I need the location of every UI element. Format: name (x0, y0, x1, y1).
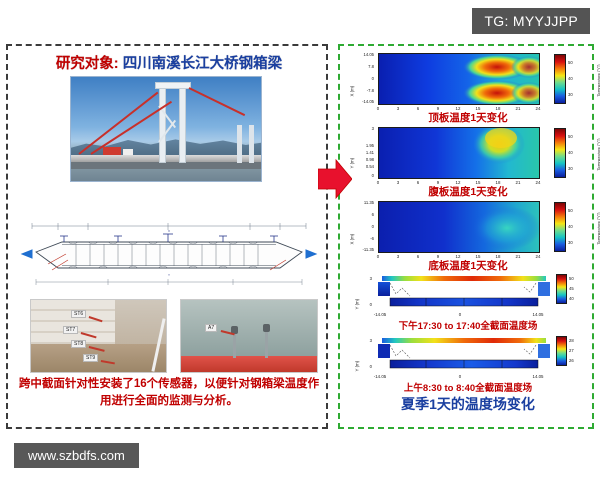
telegram-watermark-badge: TG: MYYJJPP (472, 8, 590, 34)
chart4-cbar-tick-40: 40 (569, 296, 574, 301)
chart3-title: 底板温度1天变化 (340, 258, 596, 273)
chart5-xtick-0: -14.05 (366, 374, 394, 379)
chart1-cbar-tick-30: 30 (568, 92, 573, 97)
chart3-cbar-tick-40: 40 (568, 224, 573, 229)
chart-section-morning: Y (m) 3 0 (340, 334, 596, 396)
study-caption: 跨中截面针对性安装了16个传感器，以便针对钢箱梁温度作用进行全面的监测与分析。 (14, 376, 324, 409)
chart4-cbar-tick-45: 45 (569, 286, 574, 291)
sensor-label-a7: A7 (205, 324, 217, 332)
chart3-ytick-2: 0 (346, 224, 374, 229)
sensor-label-st6: ST6 (71, 310, 86, 318)
photo-tower-cap (155, 82, 191, 89)
right-panel: X (m) 14.05 7.8 0 -7.8 -14.05 (338, 44, 594, 429)
bridge-photo (70, 76, 262, 182)
chart2-plot-area (378, 127, 540, 179)
chart4-cbar-tick-50: 50 (569, 276, 574, 281)
chart3-plot-area (378, 201, 540, 253)
chart2-ytick-2: 1.41 (348, 150, 374, 155)
chart5-ytick-0: 0 (354, 364, 372, 369)
chart1-title: 顶板温度1天变化 (340, 110, 596, 125)
photo-far-tower-left (237, 125, 242, 163)
photo-sensor-head-2 (263, 324, 270, 332)
chart3-colorbar-label: Temperature (°C) (597, 200, 600, 258)
chart5-plot-area (376, 336, 552, 372)
right-panel-summary-title: 夏季1天的温度场变化 (340, 394, 596, 414)
chart1-ytick-0: 14.05 (348, 52, 374, 57)
svg-text:X: X (168, 229, 170, 233)
chart1-cbar-tick-50: 50 (568, 60, 573, 65)
chart-web-plate: Y (m) 3 1.95 1.41 0.98 0.54 0 (340, 124, 596, 194)
sensor-label-st9: ST9 (83, 354, 98, 362)
photo-far-tower-right (249, 125, 254, 163)
chart4-title: 下午17:30 to 17:40全截面温度场 (340, 318, 596, 332)
chart1-ytick-1: 7.8 (348, 64, 374, 69)
chart1-cbar-tick-40: 40 (568, 76, 573, 81)
chart5-xtick-2: 14.05 (524, 374, 552, 379)
chart5-cbar-tick-26: 26 (569, 358, 574, 363)
sensor-label-st8: ST8 (71, 340, 86, 348)
chart1-ytick-2: 0 (348, 76, 374, 81)
chart-top-plate: X (m) 14.05 7.8 0 -7.8 -14.05 (340, 50, 596, 120)
chart1-colorbar (554, 54, 566, 104)
chart2-title: 腹板温度1天变化 (340, 184, 596, 199)
photo-vehicle (123, 149, 133, 155)
photo-river-surface (181, 300, 317, 356)
photo-sensor-post-2 (265, 328, 268, 358)
chart4-xtick-0: -14.05 (366, 312, 394, 317)
chart4-xtick-2: 14.05 (524, 312, 552, 317)
photo-red-deck (181, 356, 317, 372)
sensor-deck-photo: A7 (180, 299, 318, 373)
chart-section-afternoon: Y (m) 3 0 (340, 272, 596, 334)
chart3-ytick-3: -6 (346, 236, 374, 241)
chart4-ytick-0: 0 (354, 302, 372, 307)
flow-arrow-right-icon (318, 158, 352, 200)
chart3-cbar-tick-30: 30 (568, 240, 573, 245)
chart2-cbar-tick-30: 30 (568, 166, 573, 171)
chart5-ytick-1: 3 (354, 338, 372, 343)
photo-bridge-girder (71, 162, 261, 169)
chart4-colorbar (556, 274, 567, 304)
chart1-colorbar-label: Temperature (°C) (597, 52, 600, 110)
chart3-cbar-tick-50: 50 (568, 208, 573, 213)
chart1-plot-area (378, 53, 540, 105)
chart3-colorbar (554, 202, 566, 252)
page-title: 研究对象: 四川南溪长江大桥钢箱梁 (8, 52, 330, 73)
chart2-ytick-1: 1.95 (348, 143, 374, 148)
chart2-cbar-tick-50: 50 (568, 134, 573, 139)
chart5-colorbar (556, 336, 567, 366)
chart1-ytick-4: -14.05 (348, 99, 374, 104)
chart4-xtick-1: 0 (452, 312, 468, 317)
photo-main-cable-3 (189, 87, 246, 116)
chart4-ytick-1: 3 (354, 276, 372, 281)
chart3-ytick-0: 11.35 (346, 200, 374, 205)
girder-section-drawing: X Y (18, 218, 320, 290)
chart2-ytick-0: 3 (348, 126, 374, 131)
chart5-xtick-1: 0 (452, 374, 468, 379)
sensor-label-st7: ST7 (63, 326, 78, 334)
chart5-cbar-tick-28: 28 (569, 338, 574, 343)
chart5-cbar-tick-27: 27 (569, 348, 574, 353)
chart2-colorbar-label: Temperature (°C) (597, 126, 600, 184)
svg-text:Y: Y (168, 273, 170, 277)
chart4-plot-area (376, 274, 552, 310)
chart3-ytick-4: -11.35 (346, 247, 374, 252)
chart2-colorbar (554, 128, 566, 178)
photo-tower-bracing (159, 105, 186, 141)
title-prefix: 研究对象: (56, 56, 119, 72)
title-main: 四川南溪长江大桥钢箱梁 (123, 56, 283, 72)
slide-root: TG: MYYJJPP www.szbdfs.com 研究对象: 四川南溪长江大… (0, 0, 600, 480)
chart2-cbar-tick-40: 40 (568, 150, 573, 155)
photo-truck (103, 147, 121, 155)
left-panel: 研究对象: 四川南溪长江大桥钢箱梁 (6, 44, 328, 429)
sensor-inside-photo: ST6 ST7 ST8 ST9 (30, 299, 167, 373)
chart5-title: 上午8:30 to 8:40全截面温度场 (340, 380, 596, 394)
website-watermark-badge: www.szbdfs.com (14, 443, 139, 468)
chart1-ytick-3: -7.8 (348, 88, 374, 93)
chart-bottom-plate: X (m) 11.35 6 0 -6 -11.35 (340, 198, 596, 268)
chart3-ytick-1: 6 (346, 212, 374, 217)
